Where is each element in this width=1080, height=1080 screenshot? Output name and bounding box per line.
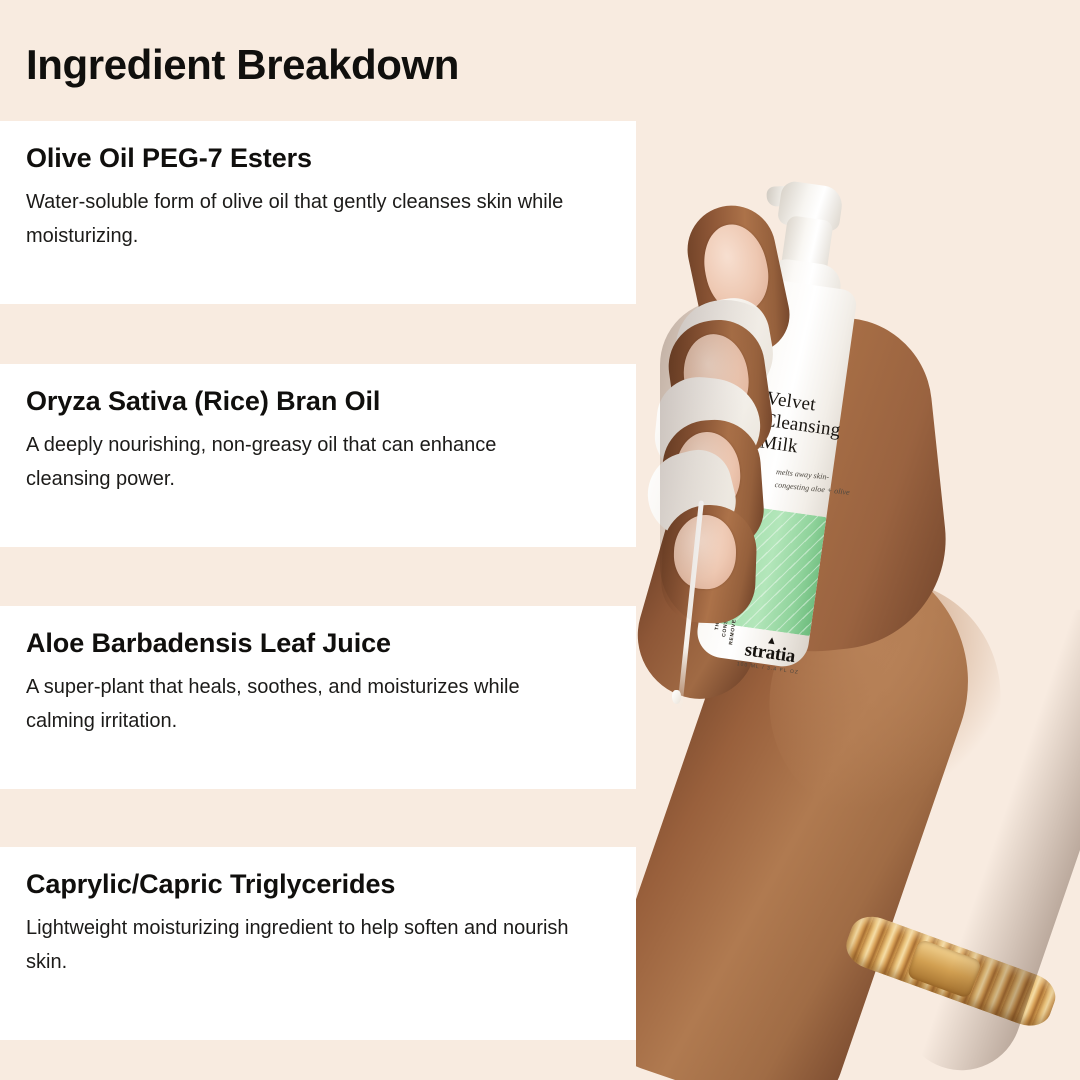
ingredient-name: Caprylic/Capric Triglycerides bbox=[26, 847, 612, 898]
ingredient-card: Olive Oil PEG-7 Esters Water-soluble for… bbox=[0, 121, 636, 304]
ingredient-description: Water-soluble form of olive oil that gen… bbox=[26, 172, 586, 253]
ingredient-card: Aloe Barbadensis Leaf Juice A super-plan… bbox=[0, 606, 636, 789]
ingredient-name: Aloe Barbadensis Leaf Juice bbox=[26, 606, 612, 657]
ingredient-card: Oryza Sativa (Rice) Bran Oil A deeply no… bbox=[0, 364, 636, 547]
ingredient-description: Lightweight moisturizing ingredient to h… bbox=[26, 898, 586, 979]
product-name-label: Velvet Cleansing Milk bbox=[759, 388, 863, 467]
ingredient-name: Olive Oil PEG-7 Esters bbox=[26, 121, 612, 172]
gold-bracelet bbox=[827, 910, 1061, 1070]
fingernail bbox=[673, 514, 738, 590]
ingredient-description: A super-plant that heals, soothes, and m… bbox=[26, 657, 586, 738]
page-title: Ingredient Breakdown bbox=[26, 44, 459, 86]
product-photo: Velvet Cleansing Milk melts away skin-co… bbox=[636, 0, 1080, 1080]
ingredient-card: Caprylic/Capric Triglycerides Lightweigh… bbox=[0, 847, 636, 1040]
infographic-canvas: Ingredient Breakdown Olive Oil PEG-7 Est… bbox=[0, 0, 1080, 1080]
cleanser-drip-bead bbox=[672, 690, 681, 704]
ingredient-name: Oryza Sativa (Rice) Bran Oil bbox=[26, 364, 612, 415]
bracelet-clasp bbox=[906, 939, 982, 999]
ingredient-description: A deeply nourishing, non-greasy oil that… bbox=[26, 415, 586, 496]
